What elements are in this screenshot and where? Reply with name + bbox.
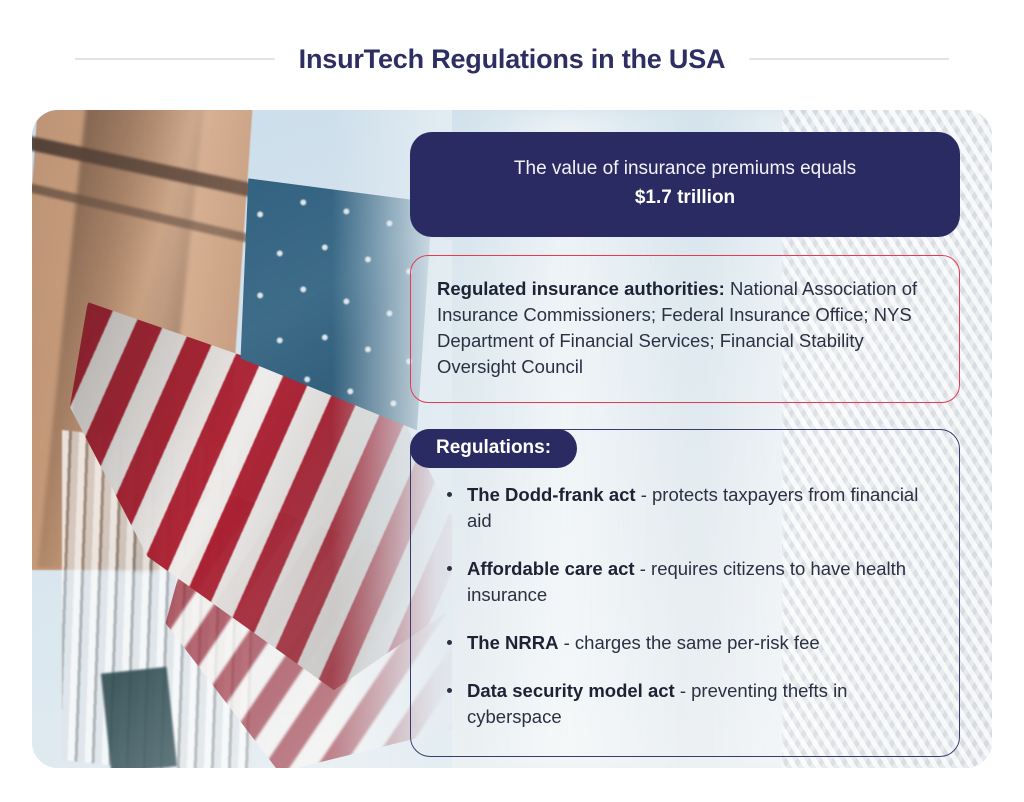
regulations-block: Regulations: The Dodd-frank act - protec… — [410, 429, 960, 757]
content-column: The value of insurance premiums equals $… — [410, 132, 970, 757]
page-title: InsurTech Regulations in the USA — [299, 44, 726, 75]
bullet-icon — [447, 492, 452, 497]
premium-value-banner: The value of insurance premiums equals $… — [410, 132, 960, 237]
regulated-authorities-label: Regulated insurance authorities: — [437, 278, 725, 299]
premium-value-caption: The value of insurance premiums equals — [440, 156, 930, 182]
main-card: The value of insurance premiums equals $… — [32, 110, 992, 768]
bullet-icon — [447, 566, 452, 571]
regulation-term: Affordable care act — [467, 558, 635, 579]
title-rule-left — [75, 58, 275, 60]
premium-value-amount: $1.7 trillion — [440, 184, 930, 211]
list-item: The NRRA - charges the same per-risk fee — [441, 630, 931, 656]
infographic-page: InsurTech Regulations in the USA — [0, 0, 1024, 802]
regulation-term: The NRRA — [467, 632, 558, 653]
bullet-icon — [447, 688, 452, 693]
regulations-list: The Dodd-frank act - protects taxpayers … — [441, 482, 931, 730]
regulation-desc: - charges the same per-risk fee — [558, 632, 819, 653]
title-rule-right — [749, 58, 949, 60]
page-header: InsurTech Regulations in the USA — [0, 38, 1024, 80]
american-flag-photo — [32, 110, 452, 768]
bullet-icon — [447, 640, 452, 645]
regulations-badge: Regulations: — [410, 429, 577, 468]
regulations-box: The Dodd-frank act - protects taxpayers … — [410, 429, 960, 757]
regulation-term: Data security model act — [467, 680, 675, 701]
list-item: Affordable care act - requires citizens … — [441, 556, 931, 608]
regulated-authorities-text: Regulated insurance authorities: Nationa… — [437, 276, 933, 380]
regulated-authorities-box: Regulated insurance authorities: Nationa… — [410, 255, 960, 403]
list-item: The Dodd-frank act - protects taxpayers … — [441, 482, 931, 534]
regulation-term: The Dodd-frank act — [467, 484, 636, 505]
list-item: Data security model act - preventing the… — [441, 678, 931, 730]
